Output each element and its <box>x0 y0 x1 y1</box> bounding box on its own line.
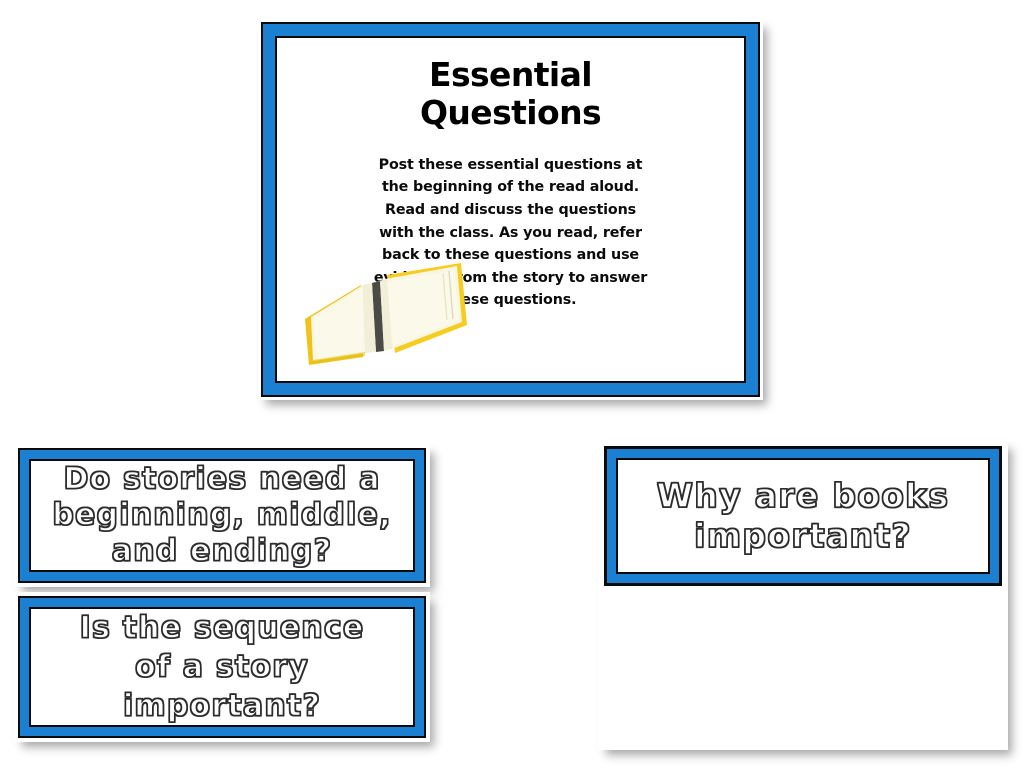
page-title: Essential Questions <box>291 56 730 132</box>
blank-response-area[interactable] <box>604 588 1002 744</box>
card-blue-border: Why are books important? <box>604 446 1002 586</box>
card-inner-white: Essential Questions Post these essential… <box>275 36 746 383</box>
card-blue-border: Do stories need a beginning, middle, and… <box>18 448 426 583</box>
card-outer-frame: Do stories need a beginning, middle, and… <box>14 444 430 587</box>
card-inner-white: Is the sequence of a story important? <box>29 607 415 727</box>
card-inner-white: Do stories need a beginning, middle, and… <box>29 459 415 572</box>
card-blue-border: Is the sequence of a story important? <box>18 596 426 738</box>
card-outer-frame: Why are books important? <box>604 446 1002 586</box>
essential-questions-card[interactable]: Essential Questions Post these essential… <box>258 19 763 400</box>
question-text: Is the sequence of a story important? <box>31 609 413 726</box>
card-inner-white: Why are books important? <box>616 458 990 574</box>
card-blue-border: Essential Questions Post these essential… <box>261 22 760 397</box>
question-text: Why are books important? <box>618 476 988 557</box>
question-card-2[interactable]: Is the sequence of a story important? <box>14 592 430 742</box>
open-book-icon <box>301 261 471 373</box>
question-card-1[interactable]: Do stories need a beginning, middle, and… <box>14 444 430 587</box>
card-outer-frame: Essential Questions Post these essential… <box>258 19 763 400</box>
question-page-card[interactable]: Why are books important? <box>598 440 1008 750</box>
card-outer-frame: Is the sequence of a story important? <box>14 592 430 742</box>
question-strip[interactable]: Why are books important? <box>604 446 1002 586</box>
question-text: Do stories need a beginning, middle, and… <box>31 461 413 570</box>
essential-questions-body: Essential Questions Post these essential… <box>277 38 744 381</box>
